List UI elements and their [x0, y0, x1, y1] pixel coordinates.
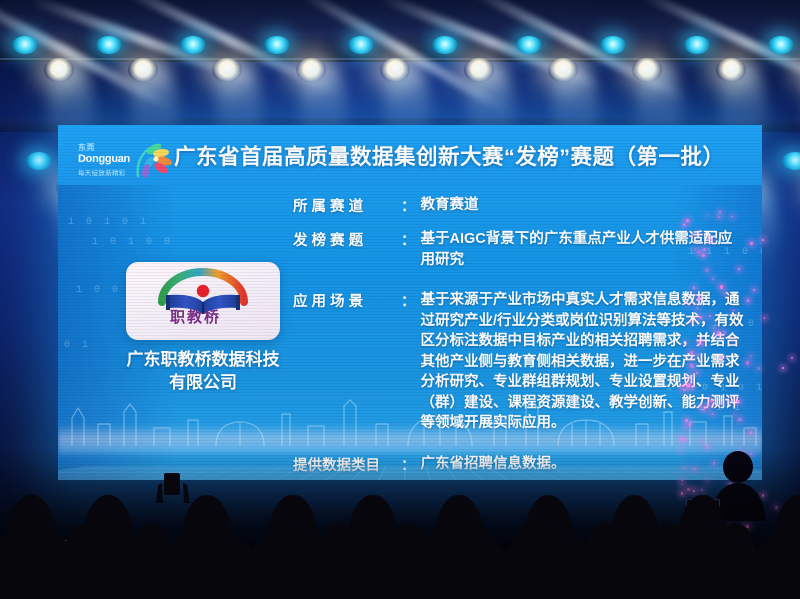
par-light-cyan [782, 152, 800, 170]
detail-row: 发 榜 赛 题：基于AIGC背景下的广东重点产业人才供需适配应用研究 [293, 229, 745, 270]
audience-head [3, 495, 58, 599]
row-spacer [293, 220, 745, 229]
emblem-city-en: Dongguan [78, 153, 130, 165]
par-light-cyan [600, 36, 626, 54]
particle [764, 317, 766, 319]
detail-row-colon: ： [401, 229, 421, 270]
detail-row-label: 所 属 赛 道 [293, 195, 401, 216]
audience-head [431, 495, 486, 599]
detail-row: 所 属 赛 道：教育赛道 [293, 195, 745, 216]
par-light-cyan [516, 36, 542, 54]
zhijiaoqiao-logo-icon [126, 262, 280, 340]
detail-row-label: 发 榜 赛 题 [293, 229, 401, 270]
emblem-city-cn: 东莞 [78, 142, 95, 153]
company-name-line1: 广东职教桥数据科技 [88, 348, 318, 371]
par-light-cyan [432, 36, 458, 54]
par-light-cyan [348, 36, 374, 54]
par-light-cyan [768, 36, 794, 54]
company-name: 广东职教桥数据科技 有限公司 [88, 348, 318, 394]
par-light-cyan [180, 36, 206, 54]
par-light-cyan [12, 36, 38, 54]
par-light-cyan [264, 36, 290, 54]
par-light-cyan [684, 36, 710, 54]
city-skyline-icon [58, 394, 762, 446]
particle [791, 357, 793, 359]
detail-row-value: 教育赛道 [421, 195, 746, 216]
company-name-line2: 有限公司 [88, 371, 318, 394]
logo-artwork [126, 262, 280, 340]
audience-silhouettes [0, 459, 800, 599]
logo-wordmark: 职教桥 [170, 306, 221, 327]
row-spacer [293, 274, 745, 290]
par-light-cyan [26, 152, 52, 170]
detail-row-value: 基于AIGC背景下的广东重点产业人才供需适配应用研究 [421, 229, 746, 270]
particle [782, 367, 784, 369]
page-title: 广东省首届高质量数据集创新大赛“发榜”赛题（第一批） [174, 140, 725, 171]
stage-photograph: 广东省首届高质量数据集创新大赛“发榜”赛题（第一批） 东莞 Dongguan 每… [0, 0, 800, 599]
company-logo-card: 职教桥 [126, 262, 280, 340]
emblem-tagline: 每天绽放新精彩 [78, 167, 126, 177]
par-light-cyan [96, 36, 122, 54]
led-screen: 广东省首届高质量数据集创新大赛“发榜”赛题（第一批） 东莞 Dongguan 每… [58, 125, 762, 480]
dongguan-city-emblem: 东莞 Dongguan 每天绽放新精彩 [76, 137, 180, 183]
audience-head [265, 495, 320, 599]
detail-row-colon: ： [401, 195, 421, 216]
audience-head [179, 495, 234, 599]
